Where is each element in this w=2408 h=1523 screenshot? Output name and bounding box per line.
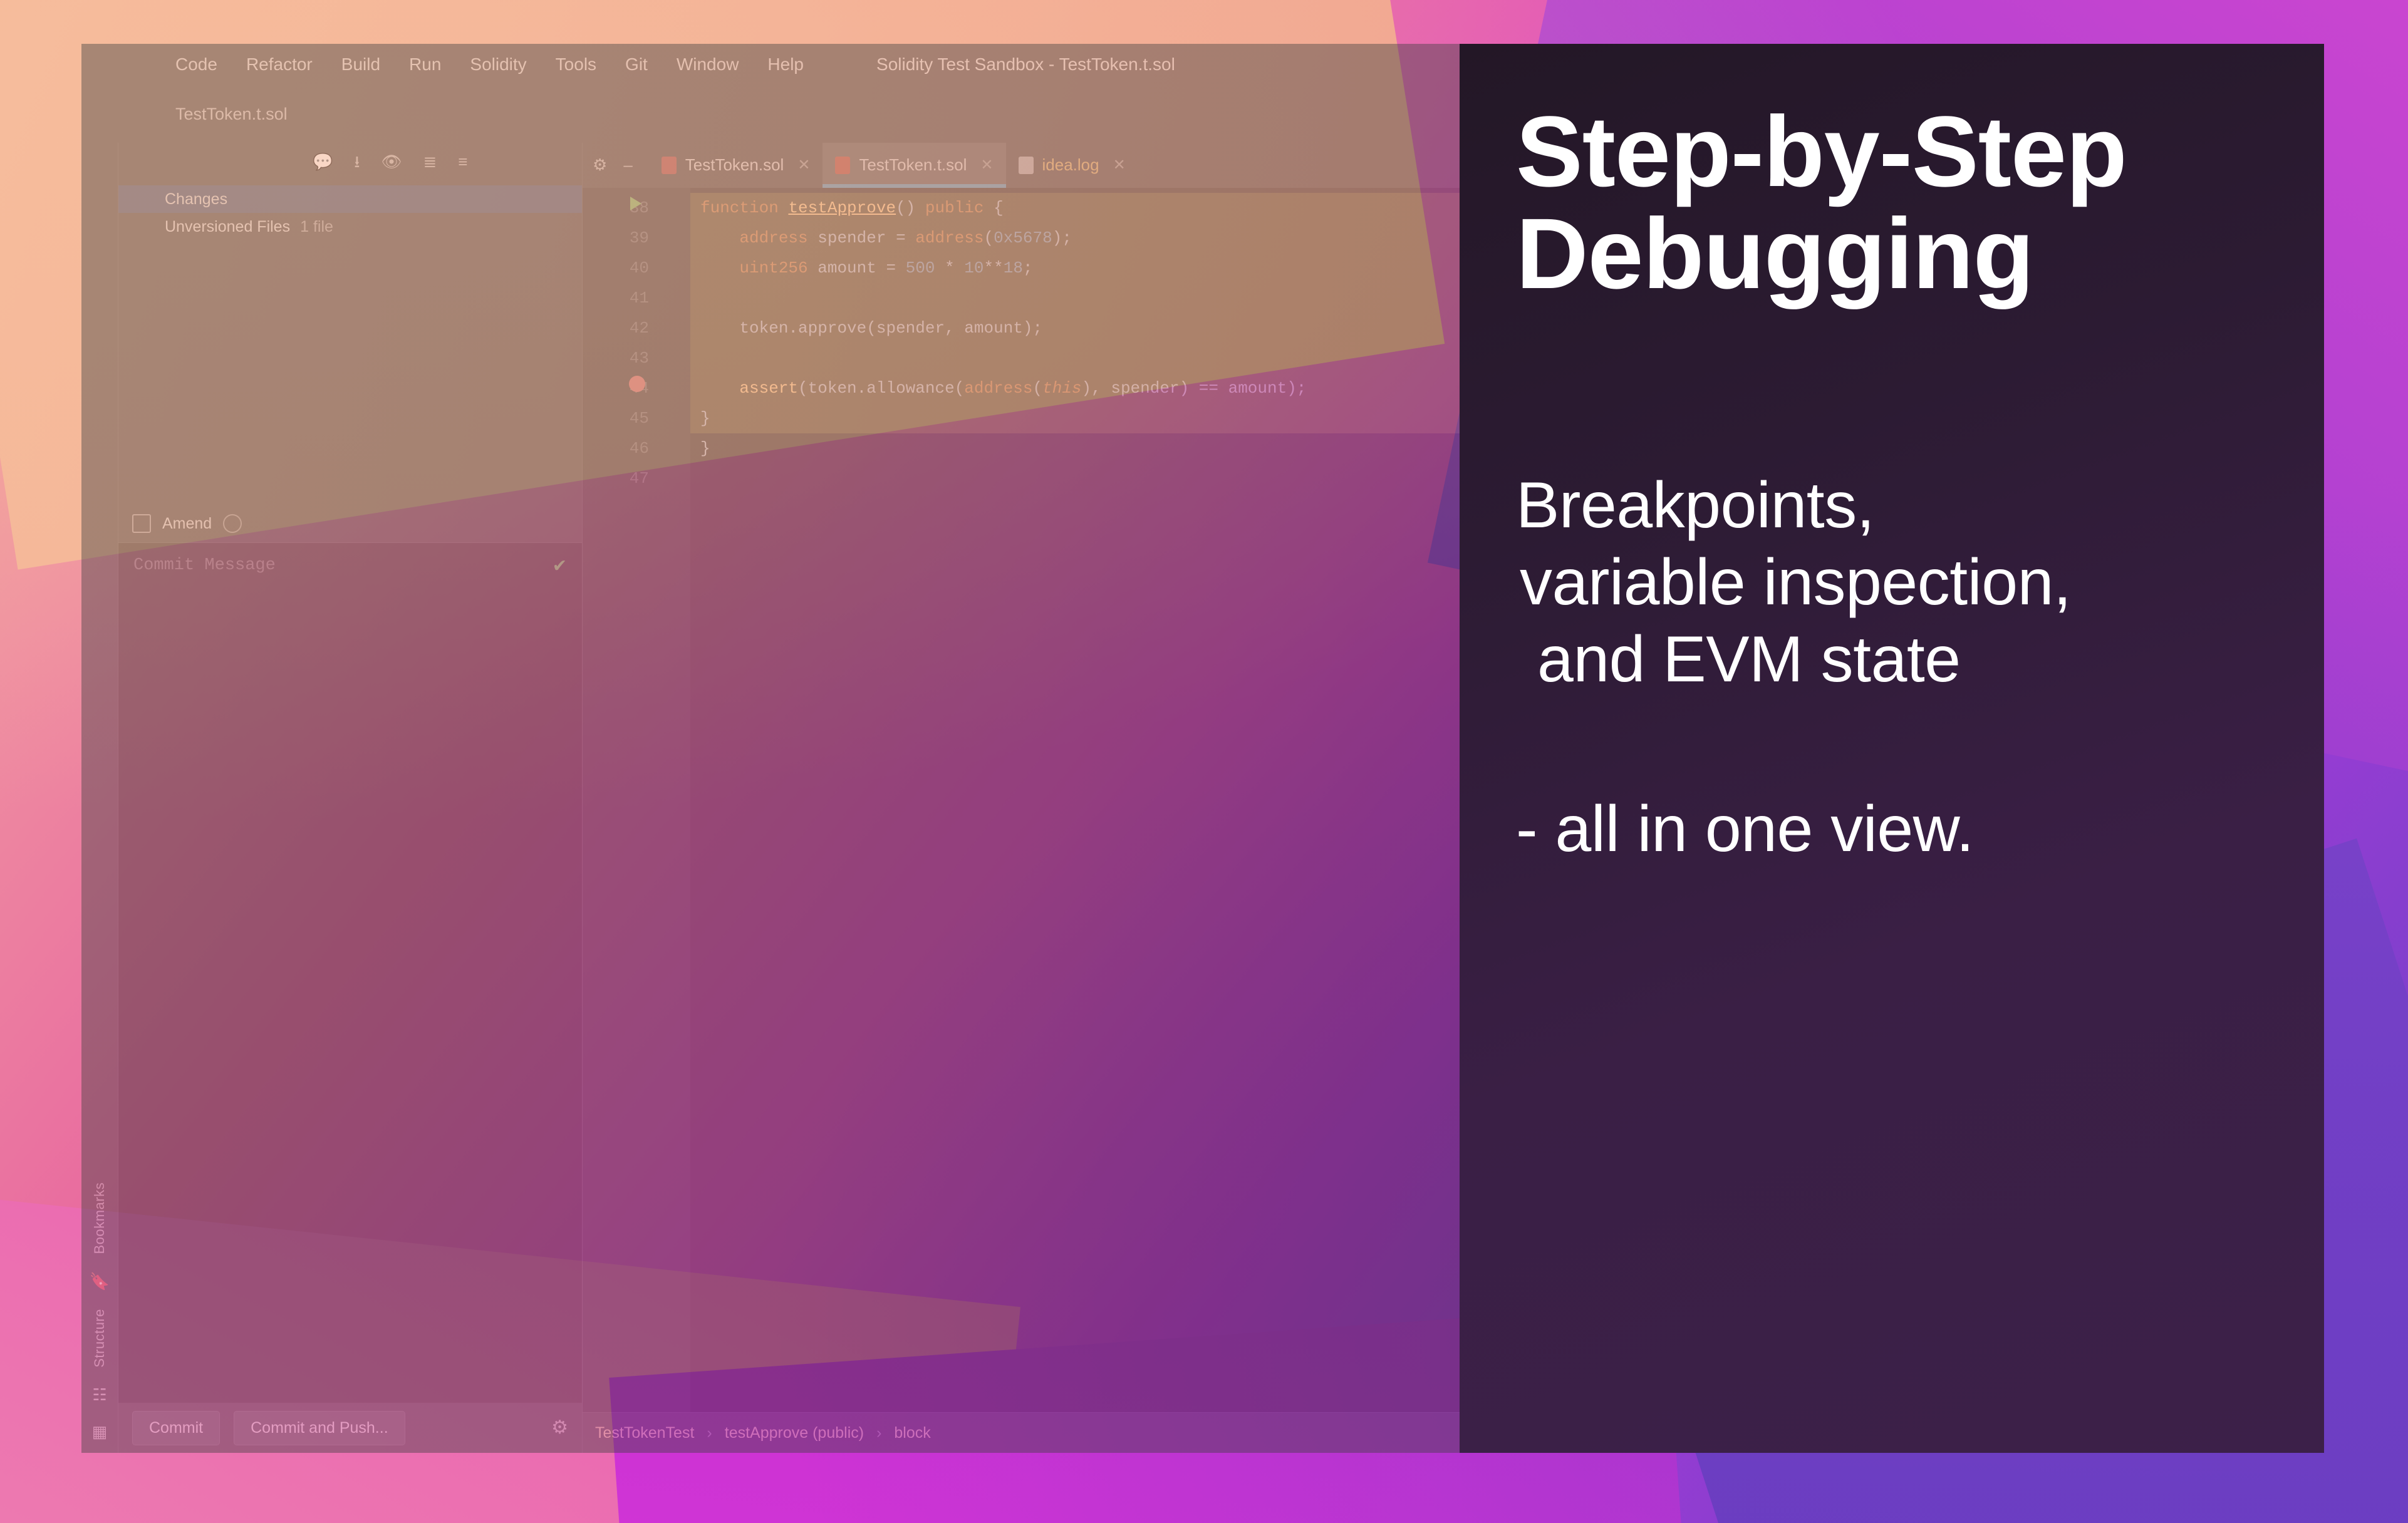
left-tool-strip: Bookmarks 🔖 Structure ☷ ▦ <box>81 143 118 1453</box>
run-arrow-icon[interactable] <box>630 197 641 210</box>
vcs-row-label: Unversioned Files <box>165 217 290 236</box>
project-path-label: TestToken.t.sol <box>175 104 288 124</box>
chevron-right-icon: › <box>876 1423 881 1442</box>
tab-label: TestToken.sol <box>685 155 784 175</box>
page-title: Step-by-Step Debugging <box>1516 100 2249 304</box>
breadcrumb-item-block[interactable]: block <box>894 1423 930 1442</box>
line-number: 43 <box>583 343 649 373</box>
gear-icon[interactable]: ⚙ <box>593 155 607 175</box>
line-number: 45 <box>583 403 649 433</box>
headline-line-1: Step-by-Step <box>1516 100 2249 202</box>
commit-message-placeholder: Commit Message <box>133 556 276 575</box>
line-number: 46 <box>583 433 649 463</box>
download-icon[interactable]: ⭳ <box>354 152 360 172</box>
expand-all-icon[interactable]: ≣ <box>423 152 437 172</box>
left-tool-strip-bottom: Bookmarks 🔖 Structure ☷ ▦ <box>81 1182 118 1442</box>
chevron-right-icon: › <box>707 1423 712 1442</box>
sidebar-item-structure[interactable]: Structure <box>91 1309 108 1368</box>
menu-item-run[interactable]: Run <box>409 54 441 75</box>
amend-label: Amend <box>162 514 212 533</box>
sidebar-item-bookmarks[interactable]: Bookmarks <box>91 1182 108 1254</box>
amend-checkbox[interactable] <box>132 514 151 533</box>
line-number-gutter[interactable]: 38 39 40 41 42 43 44 45 46 47 <box>583 188 658 1412</box>
headline-line-2: Debugging <box>1516 202 2249 304</box>
amend-row[interactable]: Amend <box>118 505 582 542</box>
log-file-icon <box>1019 157 1034 174</box>
marketing-content: Step-by-Step Debugging Breakpoints, vari… <box>1460 44 2324 1453</box>
vcs-change-tree: Changes Unversioned Files 1 file <box>118 182 582 505</box>
breakpoint-icon[interactable] <box>629 376 645 392</box>
close-icon[interactable]: ✕ <box>1113 157 1126 175</box>
structure-icon: ☷ <box>92 1385 106 1405</box>
tab-label: TestToken.t.sol <box>859 155 967 175</box>
menu-item-help[interactable]: Help <box>767 54 804 75</box>
tab-testtoken-sol[interactable]: TestToken.sol ✕ <box>649 143 823 188</box>
vcs-toolbar: 💬 ⭳ 👁 ≣ ≡ <box>118 143 582 182</box>
eye-icon[interactable]: 👁 <box>381 152 402 172</box>
solidity-test-file-icon <box>835 157 850 174</box>
grid-icon[interactable]: ▦ <box>92 1422 108 1442</box>
vcs-row-label: Changes <box>165 190 227 209</box>
marketing-body: Breakpoints, variable inspection, and EV… <box>1516 467 2249 698</box>
body-line-1: Breakpoints, <box>1516 467 2249 544</box>
breadcrumb-item-function[interactable]: testApprove (public) <box>725 1423 864 1442</box>
menu-item-tools[interactable]: Tools <box>556 54 596 75</box>
collapse-all-icon[interactable]: ≡ <box>458 152 467 172</box>
solidity-file-icon <box>662 157 677 174</box>
commit-and-push-button[interactable]: Commit and Push... <box>234 1411 405 1445</box>
menu-item-code[interactable]: Code <box>175 54 217 75</box>
menu-item-git[interactable]: Git <box>625 54 648 75</box>
commit-actions: Commit Commit and Push... ⚙ <box>118 1403 582 1453</box>
comment-icon[interactable]: 💬 <box>313 152 333 172</box>
line-number: 42 <box>583 313 649 343</box>
commit-message-input[interactable]: Commit Message ✔ <box>118 542 582 1403</box>
tab-idea-log[interactable]: idea.log ✕ <box>1006 143 1138 188</box>
line-number: 41 <box>583 283 649 313</box>
vcs-row-count: 1 file <box>300 217 333 236</box>
marketing-tagline: - all in one view. <box>1516 792 2249 867</box>
menu-item-window[interactable]: Window <box>677 54 739 75</box>
list-item[interactable]: Changes <box>118 185 582 213</box>
line-number: 40 <box>583 253 649 283</box>
gear-icon[interactable]: ⚙ <box>551 1417 568 1439</box>
line-number: 39 <box>583 223 649 253</box>
tab-label: idea.log <box>1042 155 1099 175</box>
window-title: Solidity Test Sandbox - TestToken.t.sol <box>876 54 1175 75</box>
bookmark-icon: 🔖 <box>90 1272 110 1291</box>
menu-item-refactor[interactable]: Refactor <box>246 54 313 75</box>
close-icon[interactable]: ✕ <box>980 157 993 175</box>
body-line-3: and EVM state <box>1516 621 2249 698</box>
commit-button[interactable]: Commit <box>132 1411 220 1445</box>
gutter-markers[interactable] <box>658 188 690 1412</box>
vcs-commit-panel: 💬 ⭳ 👁 ≣ ≡ Changes Unversioned Files 1 fi… <box>118 143 583 1453</box>
history-icon[interactable] <box>223 514 242 533</box>
menu-item-solidity[interactable]: Solidity <box>470 54 526 75</box>
breadcrumb-item-class[interactable]: TestTokenTest <box>595 1423 694 1442</box>
menu-item-build[interactable]: Build <box>341 54 380 75</box>
check-icon: ✔ <box>554 554 566 578</box>
list-item[interactable]: Unversioned Files 1 file <box>118 213 582 240</box>
poster-stage: Code Refactor Build Run Solidity Tools G… <box>0 0 2408 1523</box>
minimize-icon[interactable]: – <box>623 155 632 175</box>
close-icon[interactable]: ✕ <box>797 157 810 175</box>
body-line-2: variable inspection, <box>1516 544 2249 621</box>
line-number: 47 <box>583 463 649 493</box>
tab-testtoken-t-sol[interactable]: TestToken.t.sol ✕ <box>823 143 1005 188</box>
